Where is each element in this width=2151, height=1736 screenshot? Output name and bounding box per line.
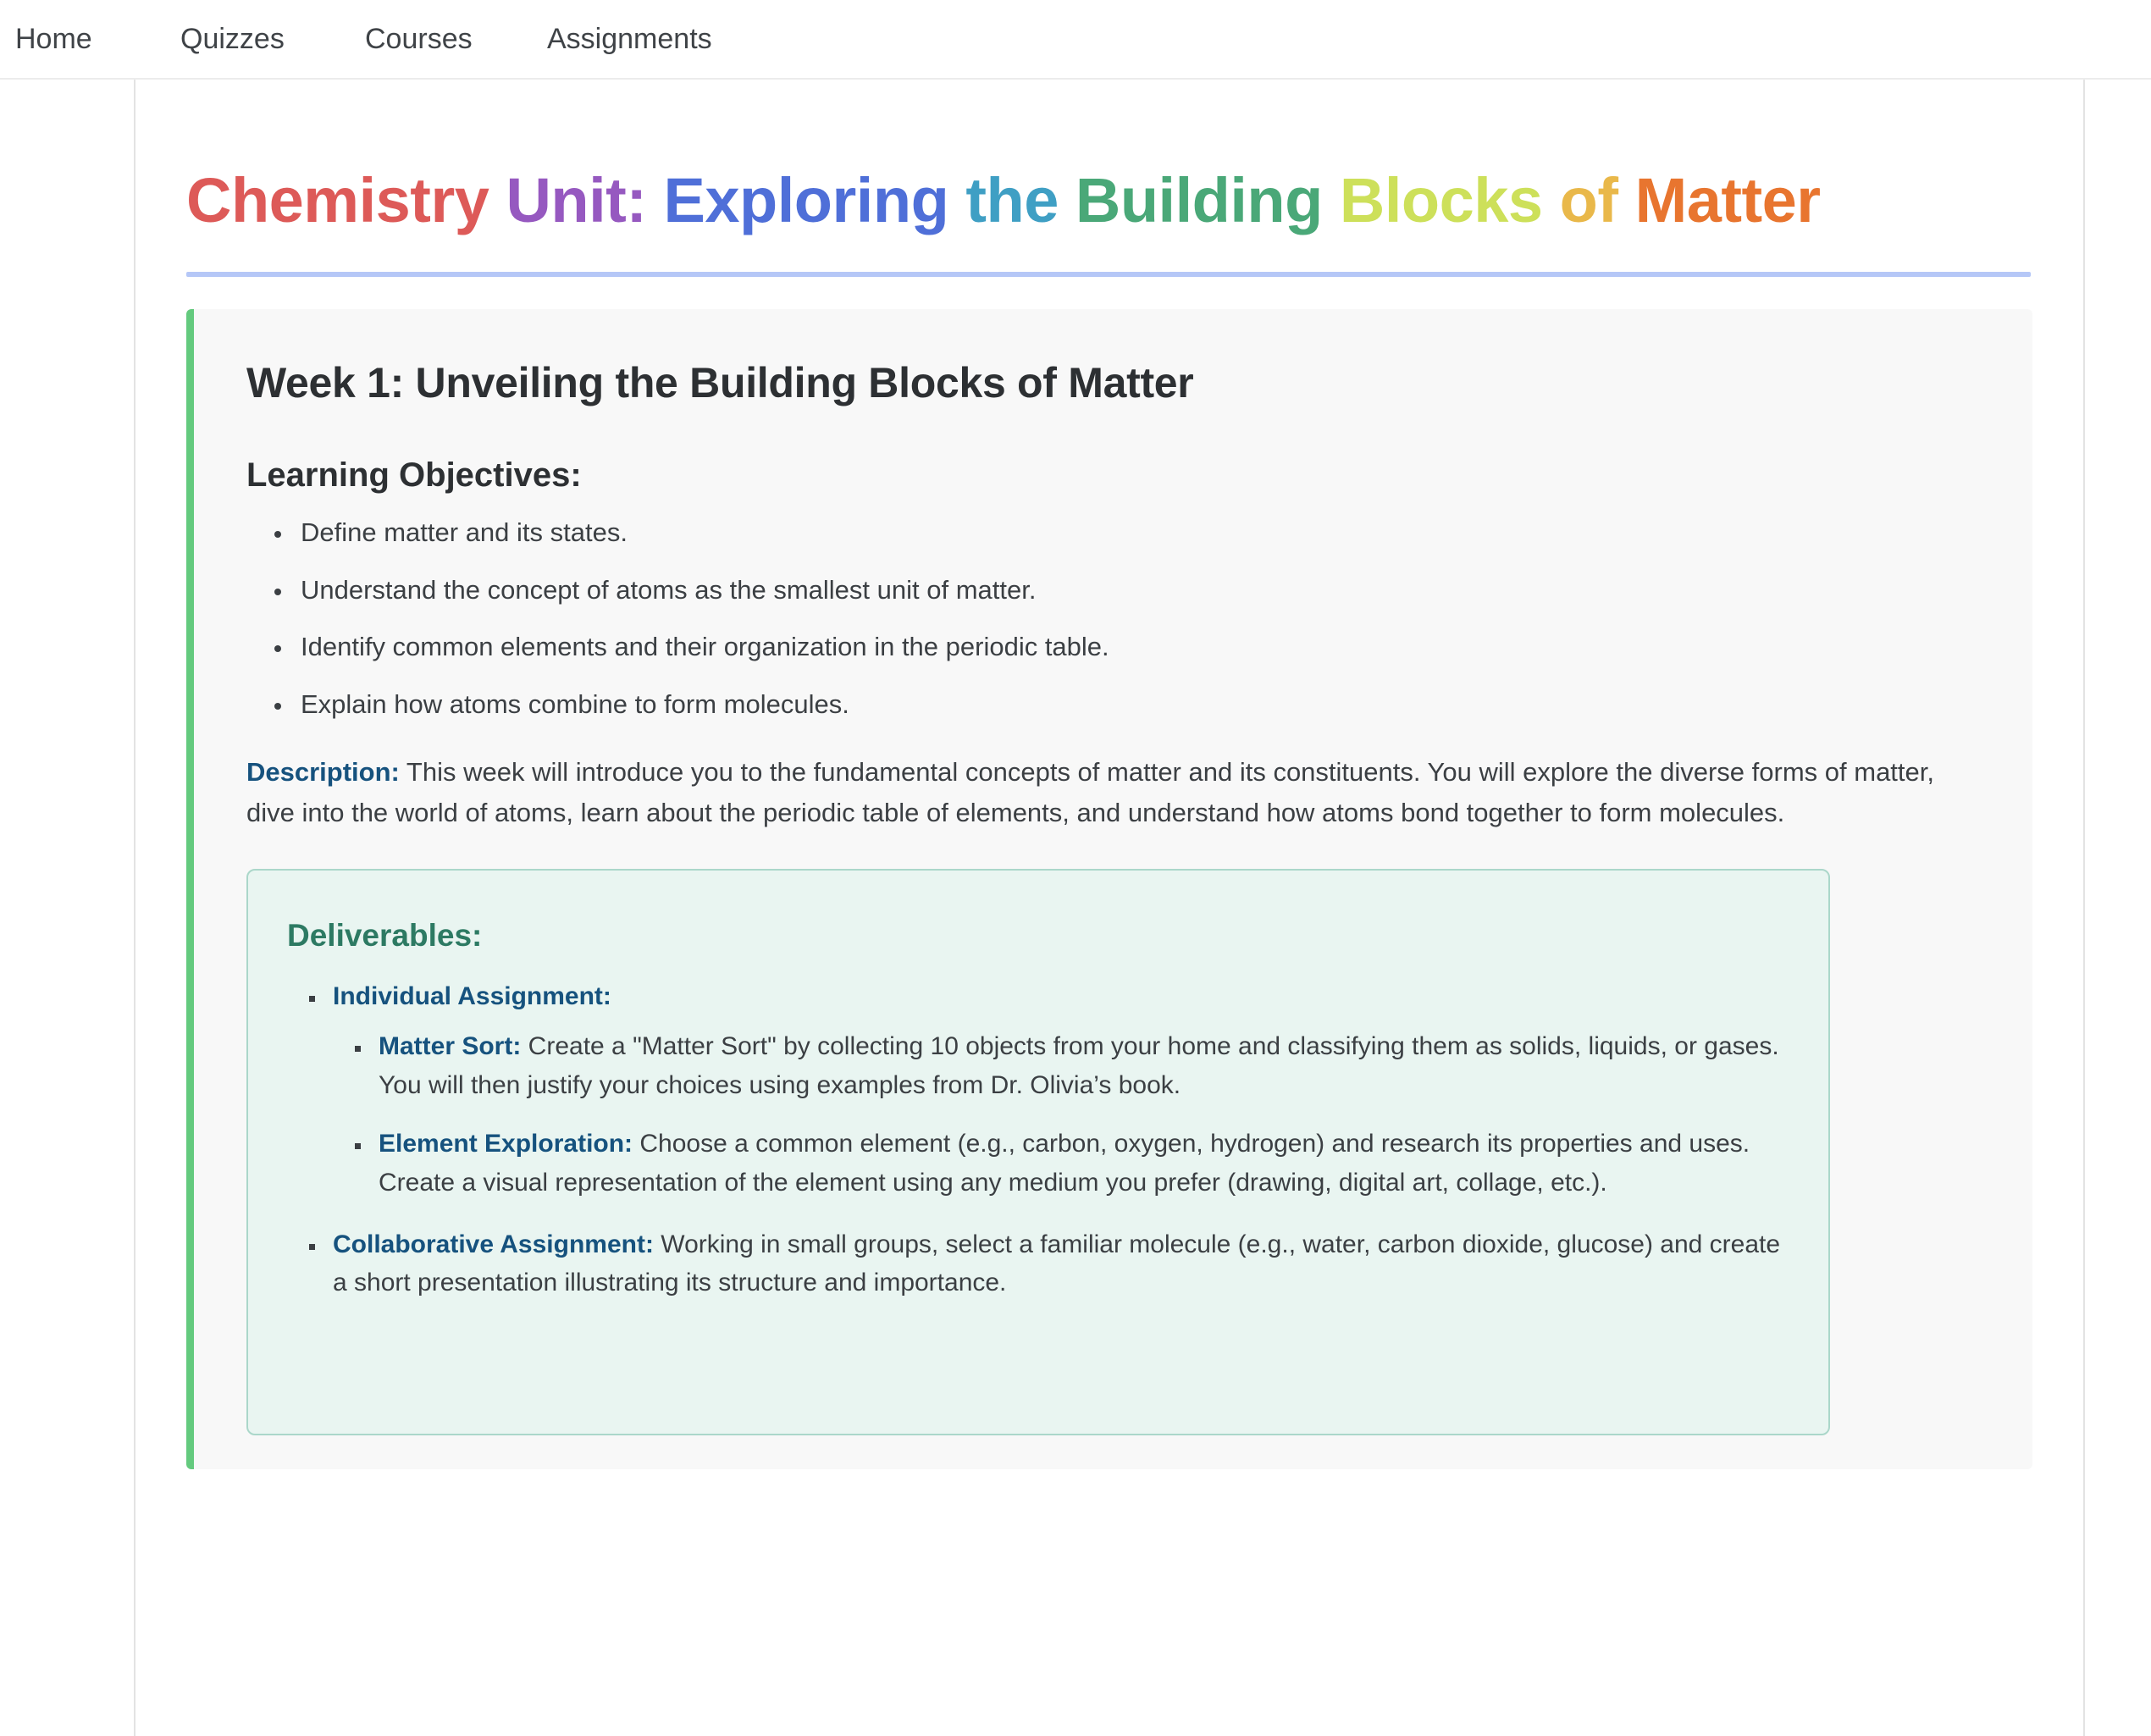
deliverables-heading: Deliverables: <box>287 918 1786 954</box>
page-title-segment-8: Building <box>1075 165 1323 235</box>
description-label: Description: <box>246 757 400 787</box>
page-title-segment-4: Exploring <box>664 165 949 235</box>
page-title-segment-11 <box>1543 165 1560 235</box>
list-item-individual-assignment: Individual Assignment: Matter Sort: Crea… <box>326 977 1786 1203</box>
individual-assignment-sublist: Matter Sort: Create a "Matter Sort" by c… <box>333 1027 1786 1203</box>
nav-item-assignments[interactable]: Assignments <box>547 25 733 53</box>
title-divider <box>186 272 2031 277</box>
nav-item-home[interactable]: Home <box>15 25 180 53</box>
page-title-segment-14: Matter <box>1635 165 1821 235</box>
element-exploration-label: Element Exploration: <box>379 1130 633 1158</box>
page-title-segment-5 <box>948 165 965 235</box>
list-item: Matter Sort: Create a "Matter Sort" by c… <box>372 1027 1786 1106</box>
left-rail <box>0 80 135 1736</box>
page-title-segment-13 <box>1618 165 1635 235</box>
list-item: Explain how atoms combine to form molecu… <box>294 688 1977 721</box>
page-title-segment-6: the <box>965 165 1059 235</box>
page-title-segment-9 <box>1323 165 1340 235</box>
matter-sort-text: Create a "Matter Sort" by collecting 10 … <box>379 1032 1779 1100</box>
top-navigation-bar: Home Quizzes Courses Assignments <box>0 0 2151 80</box>
page-frame: Chemistry Unit: Exploring the Building B… <box>0 80 2151 1736</box>
page-title-segment-7 <box>1059 165 1075 235</box>
individual-assignment-label: Individual Assignment: <box>333 982 611 1010</box>
week-card: Week 1: Unveiling the Building Blocks of… <box>186 309 2032 1469</box>
list-item-collaborative-assignment: Collaborative Assignment: Working in sma… <box>326 1225 1786 1302</box>
right-rail <box>2083 80 2151 1736</box>
collaborative-assignment-label: Collaborative Assignment: <box>333 1230 654 1258</box>
week-heading: Week 1: Unveiling the Building Blocks of… <box>246 358 1977 407</box>
week-description: Description: This week will introduce yo… <box>246 752 1977 833</box>
learning-objectives-heading: Learning Objectives: <box>246 456 1977 495</box>
deliverables-list: Individual Assignment: Matter Sort: Crea… <box>287 977 1786 1302</box>
page-title-segment-10: Blocks <box>1340 165 1543 235</box>
nav-item-courses[interactable]: Courses <box>365 25 547 53</box>
main-content: Chemistry Unit: Exploring the Building B… <box>135 80 2083 1736</box>
list-item: Identify common elements and their organ… <box>294 631 1977 664</box>
page-title-segment-12: of <box>1560 165 1618 235</box>
list-item: Define matter and its states. <box>294 517 1977 550</box>
page-title: Chemistry Unit: Exploring the Building B… <box>186 80 2083 236</box>
page-title-segment-1 <box>489 165 506 235</box>
list-item: Element Exploration: Choose a common ele… <box>372 1125 1786 1203</box>
deliverables-box: Deliverables: Individual Assignment: Mat… <box>246 869 1830 1435</box>
page-title-segment-0: Chemistry <box>186 165 489 235</box>
list-item: Understand the concept of atoms as the s… <box>294 574 1977 607</box>
page-title-segment-3 <box>646 165 663 235</box>
description-body: This week will introduce you to the fund… <box>246 757 1934 827</box>
nav-item-quizzes[interactable]: Quizzes <box>180 25 365 53</box>
learning-objectives-list: Define matter and its states. Understand… <box>246 517 1977 721</box>
page-title-segment-2: Unit: <box>506 165 646 235</box>
matter-sort-label: Matter Sort: <box>379 1032 521 1060</box>
